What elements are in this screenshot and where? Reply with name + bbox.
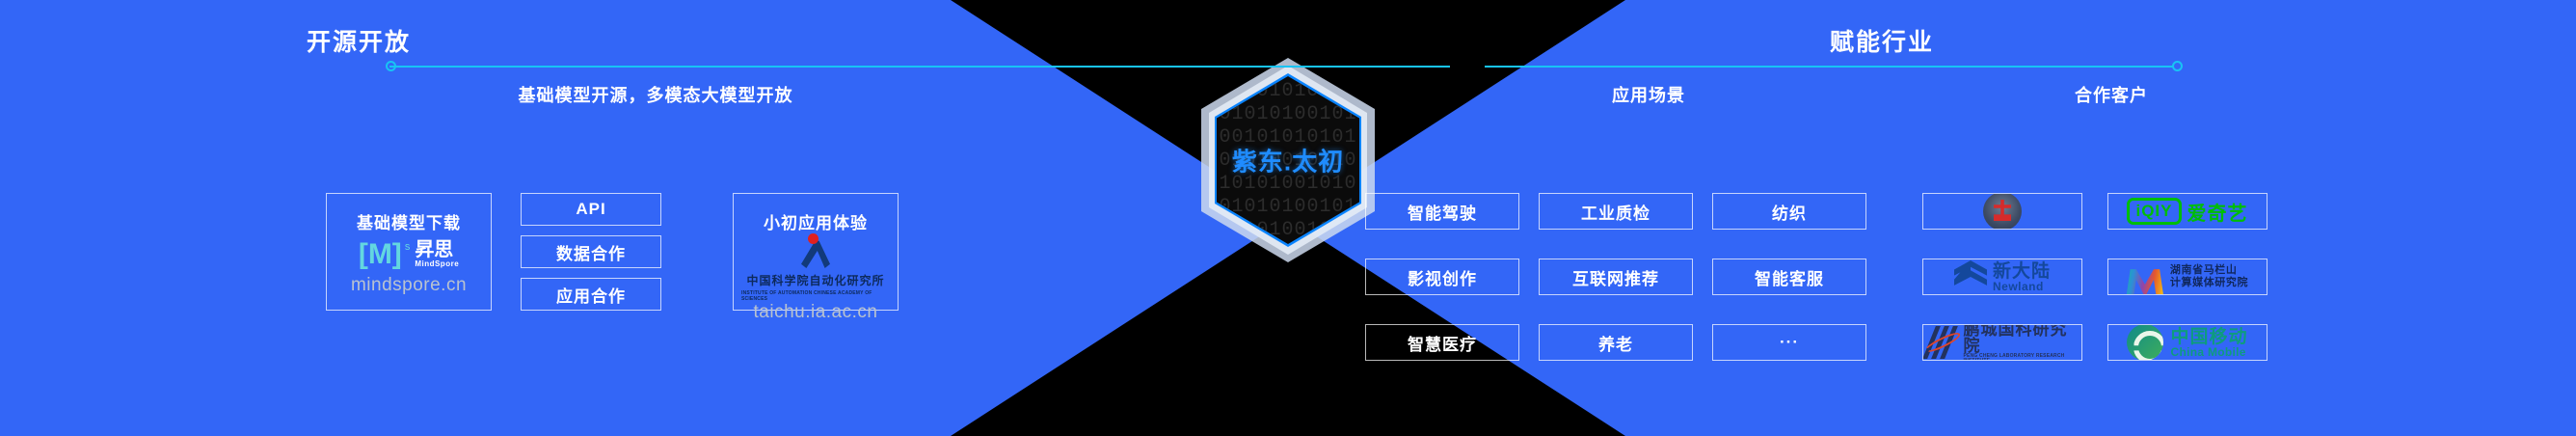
emblem-logo bbox=[1983, 193, 2022, 230]
left-rule-line bbox=[389, 66, 1450, 68]
mindspore-url[interactable]: mindspore.cn bbox=[351, 275, 467, 296]
left-subtitle: 基础模型开源，多模态大模型开放 bbox=[318, 82, 993, 107]
casia-mark-icon bbox=[795, 233, 836, 270]
mlsmedia-logo: 湖南省马栏山 计算媒体研究院 bbox=[2127, 259, 2248, 294]
scenario-cell[interactable]: ··· bbox=[1712, 324, 1866, 361]
scenario-cell[interactable]: 智能客服 bbox=[1712, 259, 1866, 295]
left-button-api[interactable]: API bbox=[521, 193, 661, 226]
scenario-cell[interactable]: 互联网推荐 bbox=[1539, 259, 1693, 295]
emblem-label: 紫东.太初 bbox=[1201, 143, 1375, 178]
scenario-cell[interactable]: 养老 bbox=[1539, 324, 1693, 361]
casia-cn: 中国科学院自动化研究所 bbox=[746, 272, 884, 288]
scenario-cell[interactable]: 影视创作 bbox=[1365, 259, 1519, 295]
taichu-url[interactable]: taichu.ia.ac.cn bbox=[754, 302, 878, 323]
right-rule-line bbox=[1485, 66, 2179, 68]
left-button-data-cooperation[interactable]: 数据合作 bbox=[521, 235, 661, 268]
center-hexagon-emblem: 0110101001001010100101001010101010101001… bbox=[1201, 58, 1375, 262]
chinamobile-cn: 中国移动 bbox=[2170, 328, 2247, 346]
pengcheng-en: PENG CHENG LABORATORY RESEARCH INSTITUTE bbox=[1964, 354, 2082, 361]
scenario-cell[interactable]: 智能驾驶 bbox=[1365, 193, 1519, 230]
mindspore-mark: [M] bbox=[359, 240, 402, 269]
chinamobile-en: China Mobile bbox=[2170, 346, 2247, 358]
left-section-title: 开源开放 bbox=[218, 23, 499, 58]
iqiyi-cn: 爱奇艺 bbox=[2187, 198, 2248, 226]
newland-logo: 新大陆 Newland bbox=[1954, 260, 2051, 293]
client-logo-cell[interactable]: 新大陆 Newland bbox=[1922, 259, 2082, 295]
left-button-app-cooperation[interactable]: 应用合作 bbox=[521, 278, 661, 311]
newland-mark-icon bbox=[1954, 260, 1987, 293]
scenario-cell[interactable]: 工业质检 bbox=[1539, 193, 1693, 230]
slide-canvas: 0110101001001010100101001010101010101001… bbox=[0, 0, 2576, 436]
right-rule-dot bbox=[2172, 61, 2183, 71]
iqiyi-logo: iQIY 爱奇艺 bbox=[2127, 198, 2247, 226]
pengcheng-cn: 鹏城国科研究院 bbox=[1964, 324, 2082, 354]
mlsmedia-line1: 湖南省马栏山 bbox=[2170, 264, 2248, 277]
chinamobile-mark-icon bbox=[2127, 324, 2163, 361]
chinamobile-logo: 中国移动 China Mobile bbox=[2127, 324, 2247, 361]
newland-cn: 新大陆 bbox=[1993, 262, 2051, 281]
client-logo-cell[interactable]: 鹏城国科研究院 PENG CHENG LABORATORY RESEARCH I… bbox=[1922, 324, 2082, 361]
mindspore-logo: [M] s 昇思 MindSpore bbox=[359, 233, 459, 275]
pengcheng-mark-icon bbox=[1923, 326, 1959, 359]
client-logo-cell[interactable]: 湖南省马栏山 计算媒体研究院 bbox=[2107, 259, 2267, 295]
card-caption: 基础模型下载 bbox=[357, 209, 461, 233]
mindspore-sup: s bbox=[405, 242, 411, 253]
basic-model-download-card[interactable]: 基础模型下载 [M] s 昇思 MindSpore mindspore.cn bbox=[326, 193, 492, 311]
mlsmedia-mark-icon bbox=[2127, 259, 2163, 294]
right-section-title: 赋能行业 bbox=[1741, 23, 2023, 58]
scenario-cell[interactable]: 纺织 bbox=[1712, 193, 1866, 230]
mindspore-cn: 昇思 bbox=[415, 240, 453, 259]
iqiyi-box: iQIY bbox=[2127, 198, 2181, 225]
scenario-cell[interactable]: 智慧医疗 bbox=[1365, 324, 1519, 361]
xiaochu-experience-card[interactable]: 小初应用体验 中国科学院自动化研究所 INSTITUTE OF AUTOMATI… bbox=[733, 193, 899, 311]
client-logo-cell[interactable]: iQIY 爱奇艺 bbox=[2107, 193, 2267, 230]
client-logo-cell[interactable]: 中国移动 China Mobile bbox=[2107, 324, 2267, 361]
mindspore-en: MindSpore bbox=[415, 259, 459, 268]
casia-en: INSTITUTE OF AUTOMATION CHINESE ACADEMY … bbox=[741, 290, 890, 302]
client-logo-cell[interactable] bbox=[1922, 193, 2082, 230]
clients-heading: 合作客户 bbox=[1938, 82, 2285, 107]
pengcheng-logo: 鹏城国科研究院 PENG CHENG LABORATORY RESEARCH I… bbox=[1923, 324, 2081, 361]
mlsmedia-line2: 计算媒体研究院 bbox=[2170, 277, 2248, 289]
scenarios-heading: 应用场景 bbox=[1475, 82, 1822, 107]
casia-logo: 中国科学院自动化研究所 INSTITUTE OF AUTOMATION CHIN… bbox=[741, 233, 890, 302]
newland-en: Newland bbox=[1993, 281, 2051, 292]
card-caption: 小初应用体验 bbox=[764, 209, 868, 233]
